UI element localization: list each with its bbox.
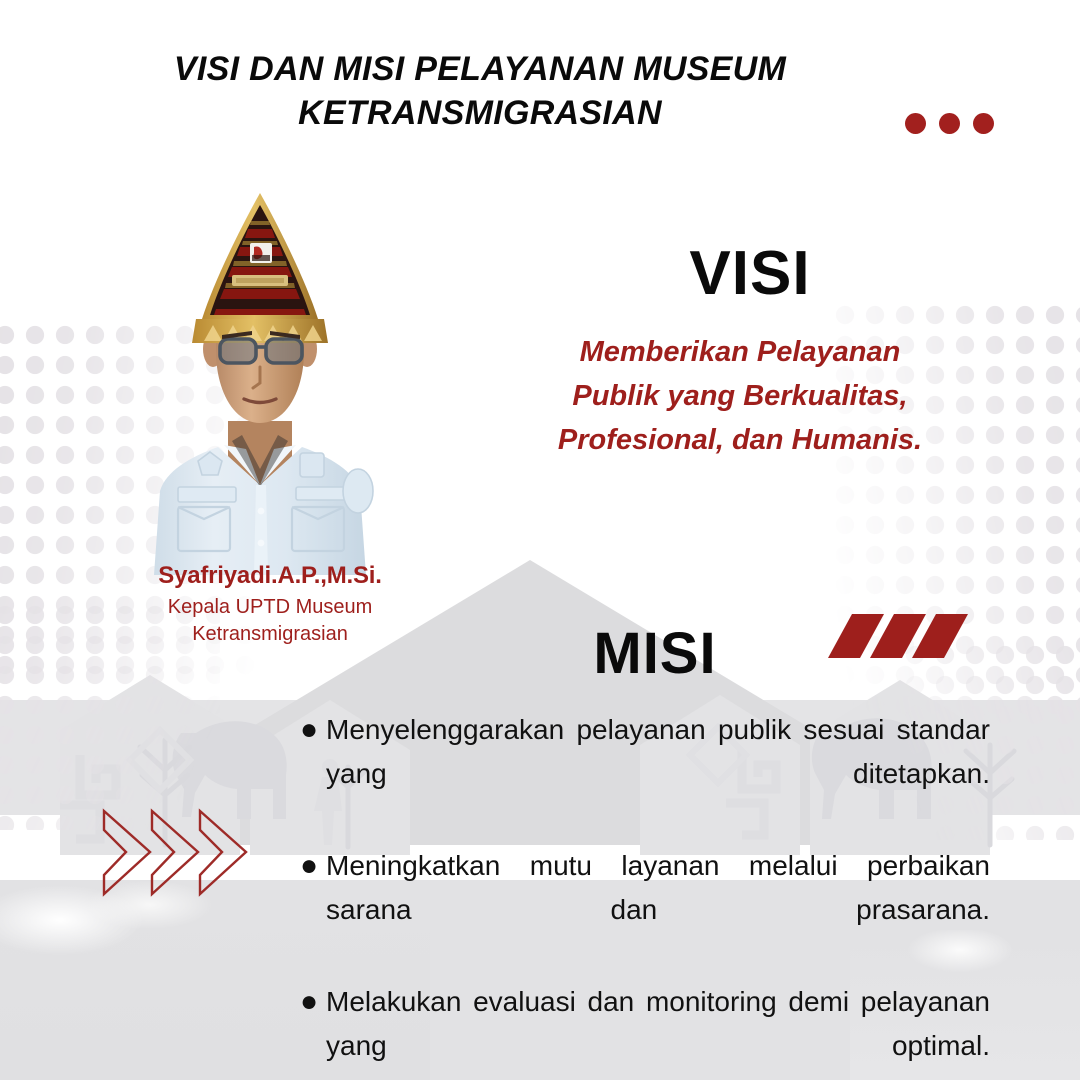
visi-heading: VISI [520,243,980,305]
visi-line-2: Publik yang Berkualitas, [572,380,907,412]
dot-3 [973,113,994,134]
person-role-line-1: Kepala UPTD Museum [168,596,373,618]
visi-line-1: Memberikan Pelayanan [580,336,901,368]
person-name: Syafriyadi.A.P.,M.Si. [60,562,480,591]
visi-line-3: Profesional, dan Humanis. [558,424,922,456]
person-role: Kepala UPTD Museum Ketransmigrasian [60,594,480,648]
three-dots-icon [905,113,994,134]
misi-item-text: Melakukan evaluasi dan monitoring demi p… [326,980,990,1080]
three-chevron-arrows-icon [100,805,275,900]
bullet-icon: ● [300,708,326,752]
misi-item: ● Menyelenggarakan pelayanan publik sesu… [300,708,990,840]
misi-heading: MISI [490,625,820,683]
page-title: VISI DAN MISI PELAYANAN MUSEUM KETRANSMI… [60,48,900,135]
page-title-line-1: VISI DAN MISI PELAYANAN MUSEUM [174,50,786,88]
misi-item: ● Meningkatkan mutu layanan melalui perb… [300,844,990,976]
person-role-line-2: Ketransmigrasian [192,623,348,645]
person-info: Syafriyadi.A.P.,M.Si. Kepala UPTD Museum… [60,562,480,648]
poster-canvas: VISI DAN MISI PELAYANAN MUSEUM KETRANSMI… [0,0,1080,1080]
visi-statement: Memberikan Pelayanan Publik yang Berkual… [495,330,985,462]
dot-1 [905,113,926,134]
portrait-photo [120,185,400,575]
three-slashes-icon [828,614,968,658]
bullet-icon: ● [300,980,326,1024]
misi-list: ● Menyelenggarakan pelayanan publik sesu… [300,708,990,1080]
misi-item-text: Meningkatkan mutu layanan melalui perbai… [326,844,990,976]
misi-item: ● Melakukan evaluasi dan monitoring demi… [300,980,990,1080]
misi-item-text: Menyelenggarakan pelayanan publik sesuai… [326,708,990,840]
bullet-icon: ● [300,844,326,888]
dot-2 [939,113,960,134]
page-title-line-2: KETRANSMIGRASIAN [298,94,662,132]
